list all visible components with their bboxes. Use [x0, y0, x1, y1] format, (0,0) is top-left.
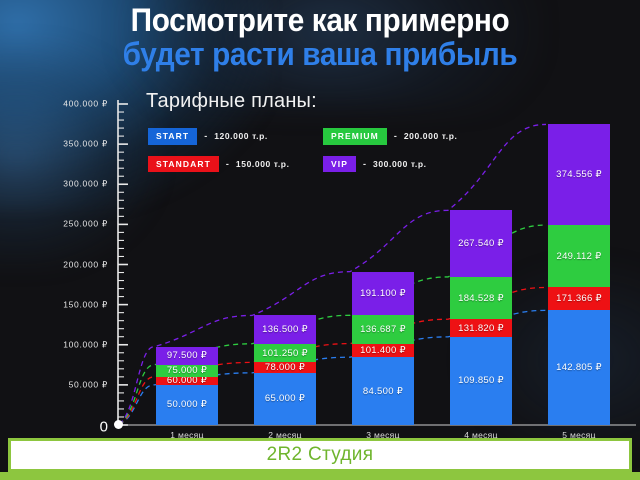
bar-segment-premium[interactable]: 249.112 ₽ — [548, 225, 610, 287]
bar-group[interactable]: 267.540 ₽184.528 ₽131.820 ₽109.850 ₽ — [450, 210, 512, 425]
bar-segment-start[interactable]: 65.000 ₽ — [254, 373, 316, 425]
bar-segment-vip[interactable]: 136.500 ₽ — [254, 315, 316, 343]
bar-segment-standart[interactable]: 131.820 ₽ — [450, 319, 512, 337]
bar-value-label: 191.100 ₽ — [360, 288, 406, 299]
bar-value-label: 131.820 ₽ — [458, 323, 504, 334]
bar-series-container: 97.500 ₽75.000 ₽60.000 ₽50.000 ₽136.500 … — [0, 86, 640, 438]
bar-value-label: 171.366 ₽ — [556, 293, 602, 304]
bar-group[interactable]: 136.500 ₽101.250 ₽78.000 ₽65.000 ₽ — [254, 315, 316, 425]
poster-canvas: Посмотрите как примерно будет расти ваша… — [0, 0, 640, 480]
bar-segment-standart[interactable]: 60.000 ₽ — [156, 377, 218, 385]
title-line-1: Посмотрите как примерно — [22, 4, 617, 37]
bar-segment-premium[interactable]: 136.687 ₽ — [352, 315, 414, 343]
footer-strip — [0, 472, 640, 480]
bar-value-label: 249.112 ₽ — [556, 251, 601, 262]
bar-segment-vip[interactable]: 191.100 ₽ — [352, 272, 414, 316]
bar-segment-start[interactable]: 142.805 ₽ — [548, 310, 610, 425]
bar-value-label: 267.540 ₽ — [458, 238, 504, 249]
footer-banner: 2R2 Студия — [8, 438, 632, 472]
bar-value-label: 184.528 ₽ — [458, 293, 504, 304]
bar-segment-standart[interactable]: 101.400 ₽ — [352, 344, 414, 358]
bar-value-label: 60.000 ₽ — [167, 377, 207, 385]
bar-group[interactable]: 97.500 ₽75.000 ₽60.000 ₽50.000 ₽ — [156, 347, 218, 425]
bar-segment-premium[interactable]: 101.250 ₽ — [254, 344, 316, 363]
bar-segment-vip[interactable]: 267.540 ₽ — [450, 210, 512, 277]
bar-value-label: 50.000 ₽ — [167, 399, 207, 410]
bar-value-label: 78.000 ₽ — [265, 362, 305, 372]
bar-value-label: 65.000 ₽ — [265, 393, 305, 404]
bar-group[interactable]: 191.100 ₽136.687 ₽101.400 ₽84.500 ₽ — [352, 272, 414, 425]
bar-segment-premium[interactable]: 184.528 ₽ — [450, 277, 512, 319]
bar-segment-standart[interactable]: 171.366 ₽ — [548, 287, 610, 310]
bar-value-label: 75.000 ₽ — [167, 365, 207, 376]
bar-value-label: 101.250 ₽ — [262, 348, 308, 359]
bar-segment-start[interactable]: 84.500 ₽ — [352, 357, 414, 425]
bar-value-label: 136.500 ₽ — [262, 324, 308, 335]
bar-group[interactable]: 374.556 ₽249.112 ₽171.366 ₽142.805 ₽ — [548, 124, 610, 425]
bar-segment-premium[interactable]: 75.000 ₽ — [156, 365, 218, 377]
bar-value-label: 142.805 ₽ — [556, 362, 602, 373]
footer-label: 2R2 Студия — [267, 444, 374, 466]
bar-segment-vip[interactable]: 374.556 ₽ — [548, 124, 610, 225]
title-line-2: будет расти ваша прибыль — [22, 38, 617, 71]
bar-value-label: 97.500 ₽ — [167, 350, 207, 361]
bar-value-label: 136.687 ₽ — [360, 324, 406, 335]
chart-panel: Тарифные планы: START - 120.000 т.р. PRE… — [0, 86, 640, 438]
bar-value-label: 374.556 ₽ — [556, 169, 602, 180]
bar-segment-start[interactable]: 50.000 ₽ — [156, 385, 218, 425]
bar-segment-start[interactable]: 109.850 ₽ — [450, 337, 512, 425]
bar-value-label: 84.500 ₽ — [363, 386, 403, 397]
bar-value-label: 109.850 ₽ — [458, 375, 504, 386]
bar-segment-vip[interactable]: 97.500 ₽ — [156, 347, 218, 365]
origin-marker — [114, 420, 123, 429]
bar-segment-standart[interactable]: 78.000 ₽ — [254, 362, 316, 372]
poster-title: Посмотрите как примерно будет расти ваша… — [0, 4, 640, 72]
bar-value-label: 101.400 ₽ — [360, 345, 406, 356]
